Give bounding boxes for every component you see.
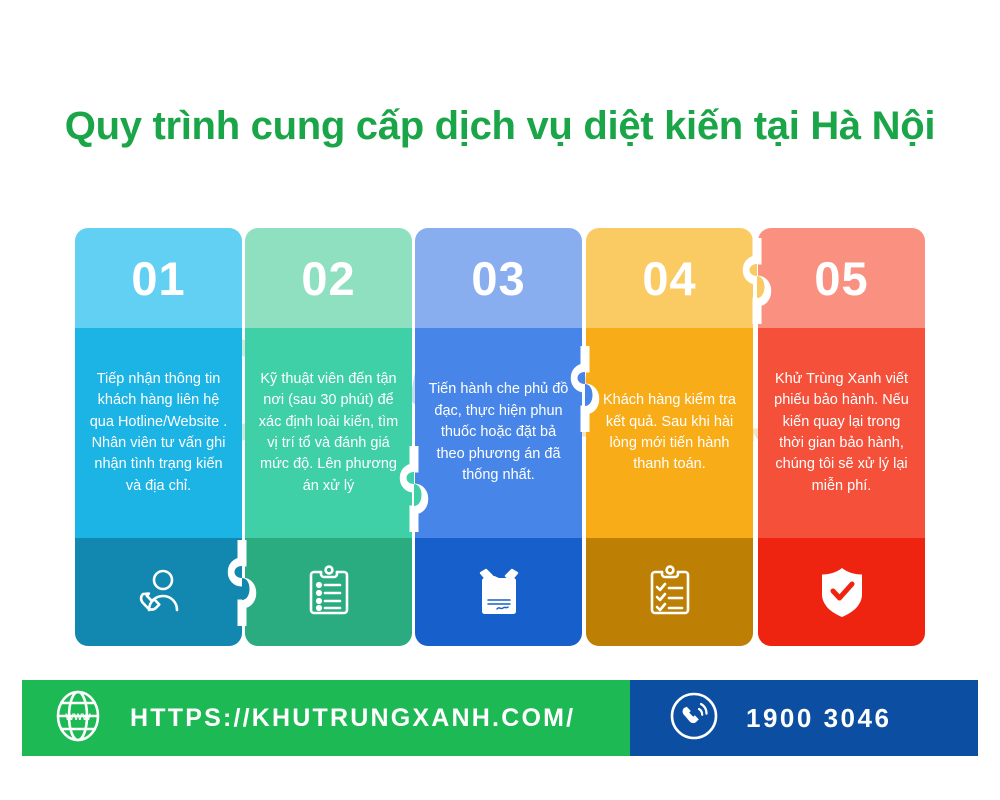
shield-check-icon (815, 564, 869, 620)
page-title: Quy trình cung cấp dịch vụ diệt kiến tại… (0, 103, 1000, 149)
step-icon-band-4 (586, 538, 753, 646)
step-number-band-2: 02 (245, 228, 412, 328)
puzzle-connector-3-4 (558, 346, 612, 432)
footer-bar: WWW HTTPS://KHUTRUNGXANH.COM/ 1900 3046 (22, 680, 978, 756)
step-number-band-4: 04 (586, 228, 753, 328)
phone-ring-icon (668, 690, 720, 747)
step-number-4: 04 (642, 251, 696, 306)
step-number-band-3: 03 (415, 228, 582, 328)
step-icon-band-5 (758, 538, 925, 646)
step-number-3: 03 (471, 251, 525, 306)
step-description-5: Khử Trùng Xanh viết phiếu bảo hành. Nếu … (770, 369, 913, 498)
step-icon-band-3 (415, 538, 582, 646)
footer-url-text: HTTPS://KHUTRUNGXANH.COM/ (130, 704, 575, 733)
step-card-3[interactable]: 03 Tiến hành che phủ đồ đạc, thực hiện p… (415, 228, 582, 646)
svg-text:WWW: WWW (65, 712, 91, 722)
step-card-2[interactable]: 02 Kỹ thuật viên đến tận nơi (sau 30 phú… (245, 228, 412, 646)
step-number-1: 01 (131, 251, 185, 306)
step-description-3: Tiến hành che phủ đồ đạc, thực hiện phun… (427, 379, 570, 486)
puzzle-connector-4-5 (730, 238, 784, 324)
infographic-page: Quy trình cung cấp dịch vụ diệt kiến tại… (0, 0, 1000, 800)
step-description-band-1: Tiếp nhận thông tin khách hàng liên hệ q… (75, 328, 242, 538)
step-description-band-5: Khử Trùng Xanh viết phiếu bảo hành. Nếu … (758, 328, 925, 538)
footer-phone-text: 1900 3046 (746, 703, 891, 734)
step-number-band-1: 01 (75, 228, 242, 328)
clipboard-list-icon (304, 564, 354, 620)
globe-www-icon: WWW (52, 690, 104, 747)
handshake-contract-icon (470, 564, 528, 620)
process-steps-row: 01 Tiếp nhận thông tin khách hàng liên h… (75, 228, 925, 646)
step-description-2: Kỹ thuật viên đến tận nơi (sau 30 phút) … (257, 369, 400, 498)
puzzle-connector-1-2 (215, 540, 269, 626)
puzzle-connector-2-3 (387, 446, 441, 532)
step-number-2: 02 (301, 251, 355, 306)
step-icon-band-2 (245, 538, 412, 646)
footer-phone-section[interactable]: 1900 3046 (630, 680, 978, 756)
footer-website-section[interactable]: WWW HTTPS://KHUTRUNGXANH.COM/ (22, 680, 630, 756)
step-description-4: Khách hàng kiểm tra kết quả. Sau khi hài… (598, 390, 741, 476)
person-phone-support-icon (131, 564, 187, 620)
step-description-1: Tiếp nhận thông tin khách hàng liên hệ q… (87, 369, 230, 498)
clipboard-check-icon (645, 564, 695, 620)
step-card-4[interactable]: 04 Khách hàng kiểm tra kết quả. Sau khi … (586, 228, 753, 646)
step-number-5: 05 (814, 251, 868, 306)
